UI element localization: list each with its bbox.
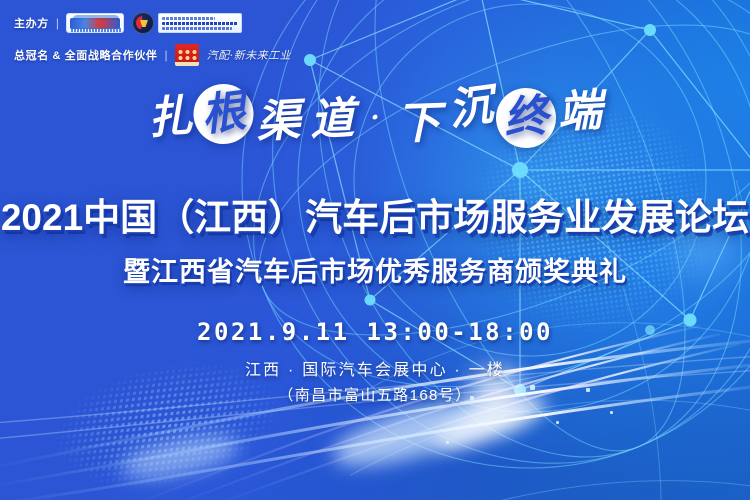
event-poster: 主办方 | 总冠名 & 全面战略合作伙伴 | 汽配·新未来工业 扎 根 渠 道 … <box>0 0 750 500</box>
sponsor-header: 主办方 | 总冠名 & 全面战略合作伙伴 | 汽配·新未来工业 <box>14 10 291 68</box>
sparkle <box>446 441 449 444</box>
separator: | <box>56 16 59 30</box>
calligraphy-slogan: 扎 根 渠 道 · 下 沉 终 端 <box>0 96 750 140</box>
light-flare <box>118 428 242 486</box>
event-address: （南昌市富山五路168号） <box>0 384 750 405</box>
network-globe-icon <box>220 0 750 490</box>
separator: | <box>164 48 167 62</box>
slogan-char: 道 <box>308 97 358 143</box>
camp-logo-icon <box>132 12 242 34</box>
slogan-char: 终 <box>500 94 552 142</box>
seal-logo-icon <box>175 44 199 66</box>
handwritten-brand-label: 汽配·新未来工业 <box>207 47 292 63</box>
event-venue: 江西 · 国际汽车会展中心 · 一楼 <box>0 356 750 380</box>
sponsor-row-organizer: 主办方 | <box>14 10 291 36</box>
event-title: 2021中国（江西）汽车后市场服务业发展论坛 <box>0 198 750 238</box>
slogan-char: 端 <box>554 89 604 135</box>
sparkle <box>500 415 503 418</box>
event-datetime: 2021.9.11 13:00-18:00 <box>0 318 750 346</box>
slogan-char: 沉 <box>443 83 497 133</box>
event-subtitle: 暨江西省汽车后市场优秀服务商颁奖典礼 <box>0 250 750 289</box>
sparkle <box>556 421 559 424</box>
slogan-char: 根 <box>197 89 250 139</box>
slogan-char: 扎 <box>145 94 196 141</box>
organizer-label: 主办方 <box>14 15 49 31</box>
light-streaks <box>0 320 750 500</box>
sparkle <box>610 411 613 414</box>
sponsor-row-title-partner: 总冠名 & 全面战略合作伙伴 | 汽配·新未来工业 <box>14 42 291 68</box>
slogan-char: 下 <box>393 101 443 147</box>
title-partner-label: 总冠名 & 全面战略合作伙伴 <box>14 47 157 63</box>
qipei-logo-icon <box>66 13 124 33</box>
slogan-separator-dot: · <box>368 105 381 131</box>
slogan-char: 渠 <box>254 99 304 145</box>
